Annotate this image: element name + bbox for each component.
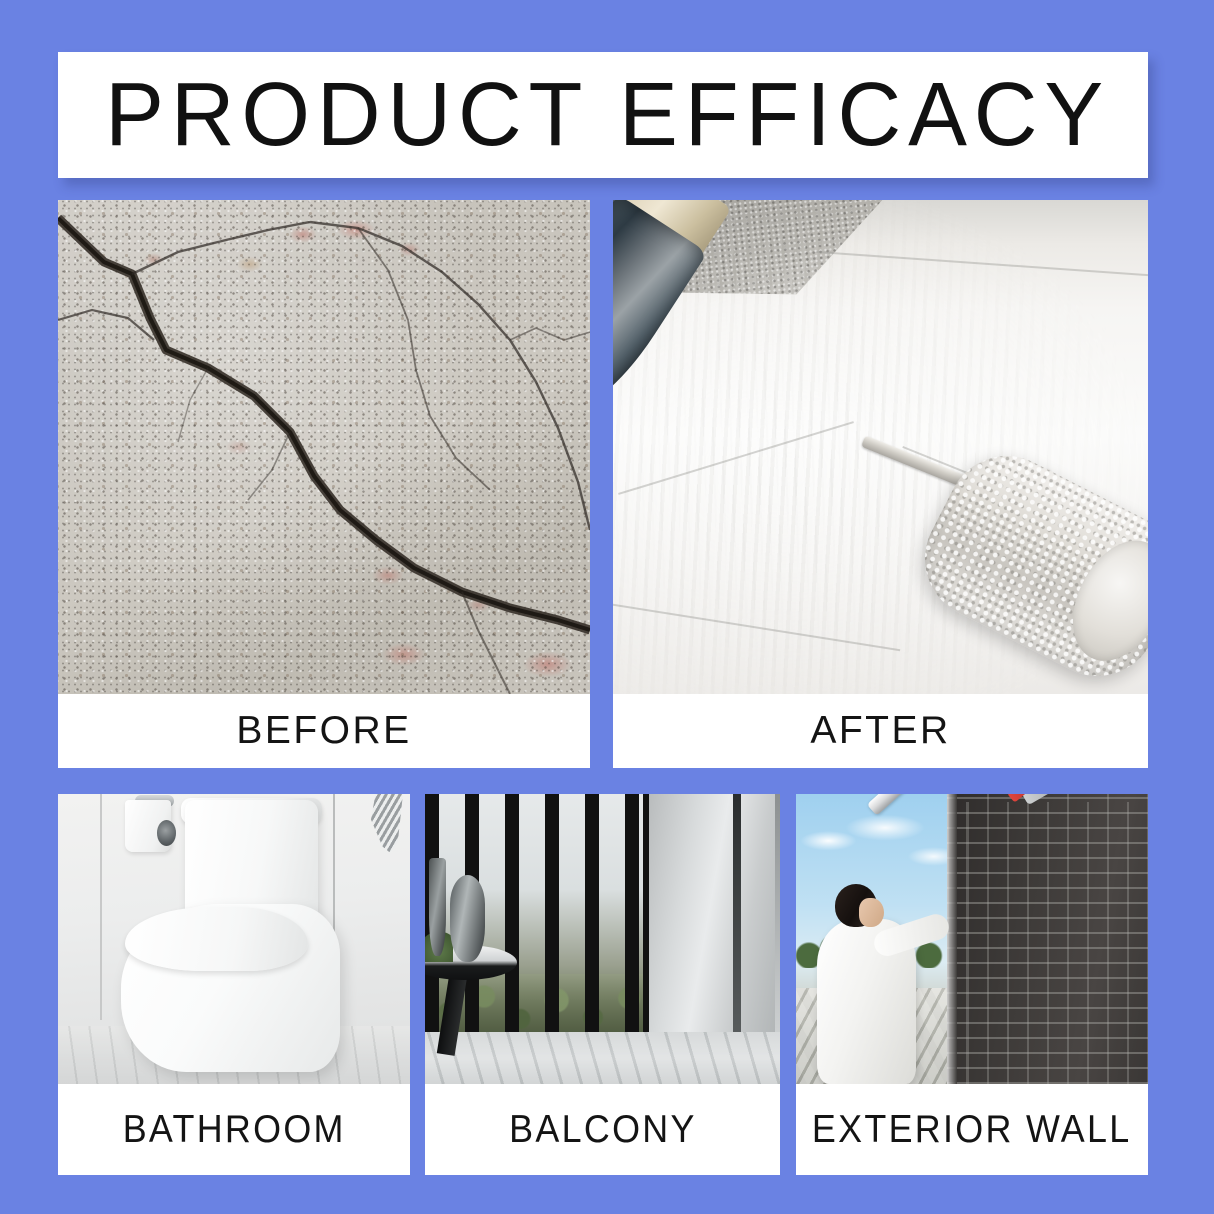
vase-icon	[429, 858, 447, 957]
glass-door-panel	[649, 794, 780, 1049]
crack-overlay-icon	[58, 200, 590, 694]
door-frame-edge	[775, 794, 780, 1049]
card-balcony: BALCONY	[425, 794, 780, 1175]
caption-balcony: BALCONY	[425, 1084, 780, 1175]
clouds	[796, 806, 958, 893]
photo-after-paint-roller	[613, 200, 1148, 694]
product-efficacy-poster: PRODUCT EFFICACY BEFORE	[0, 0, 1214, 1214]
caption-text-after: AFTER	[810, 709, 950, 753]
photo-balcony	[425, 794, 780, 1084]
balcony-floor	[425, 1032, 780, 1084]
photo-before-cracked-concrete	[58, 200, 590, 694]
caption-text-exterior-wall: EXTERIOR WALL	[812, 1108, 1132, 1152]
title-banner: PRODUCT EFFICACY	[58, 52, 1148, 178]
caption-after: AFTER	[613, 694, 1148, 768]
card-after: AFTER	[613, 200, 1148, 768]
vase-icon	[450, 875, 486, 962]
caption-bathroom: BATHROOM	[58, 1084, 410, 1175]
card-exterior-wall: EXTERIOR WALL	[796, 794, 1148, 1175]
caption-text-before: BEFORE	[236, 709, 411, 753]
door-frame-edge	[733, 794, 741, 1049]
caption-exterior-wall: EXTERIOR WALL	[796, 1084, 1148, 1175]
page-title: PRODUCT EFFICACY	[96, 70, 1111, 160]
shower-hose-icon	[357, 794, 403, 858]
brick-wall	[947, 794, 1148, 1084]
caption-before: BEFORE	[58, 694, 590, 768]
card-before: BEFORE	[58, 200, 590, 768]
card-bathroom: BATHROOM	[58, 794, 410, 1175]
caption-text-bathroom: BATHROOM	[122, 1108, 345, 1152]
toilet-seat	[125, 907, 308, 971]
caption-text-balcony: BALCONY	[509, 1108, 697, 1152]
photo-exterior-wall	[796, 794, 1148, 1084]
paper-roll-core	[157, 820, 176, 846]
wall-tile-seam	[100, 794, 102, 1020]
photo-bathroom	[58, 794, 410, 1084]
